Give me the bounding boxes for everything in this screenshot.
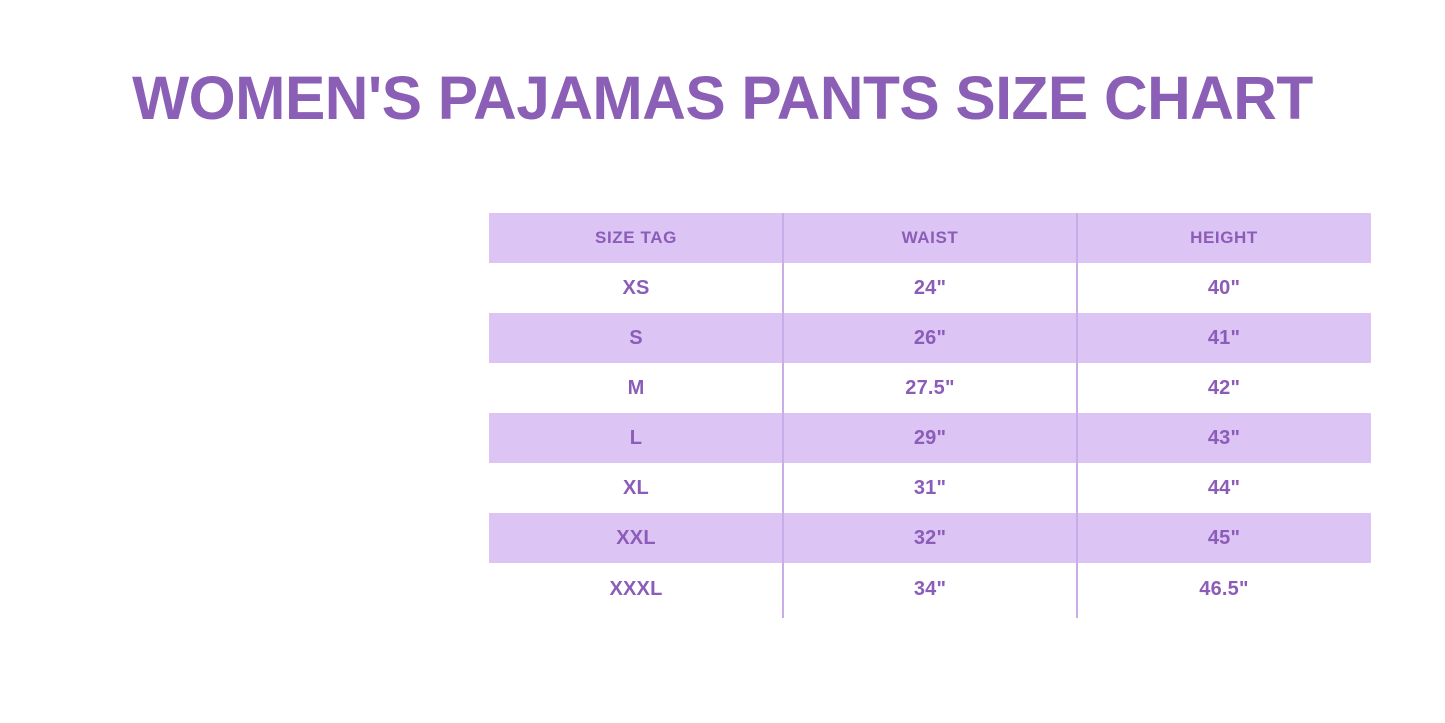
cell-height: 43" xyxy=(1077,413,1371,463)
cell-height: 41" xyxy=(1077,313,1371,363)
cell-waist: 24" xyxy=(783,263,1077,313)
cell-height: 44" xyxy=(1077,463,1371,513)
cell-size-tag: XXL xyxy=(489,513,783,563)
cell-waist: 29" xyxy=(783,413,1077,463)
size-chart-table-wrapper: SIZE TAG WAIST HEIGHT XS 24" 40" S 26" 4… xyxy=(489,213,1371,615)
cell-height: 42" xyxy=(1077,363,1371,413)
table-header-row: SIZE TAG WAIST HEIGHT xyxy=(489,213,1371,263)
table-row: XL 31" 44" xyxy=(489,463,1371,513)
cell-height: 46.5" xyxy=(1077,563,1371,615)
cell-size-tag: L xyxy=(489,413,783,463)
column-header-size-tag: SIZE TAG xyxy=(489,213,783,263)
table-body: XS 24" 40" S 26" 41" M 27.5" 42" L 29" xyxy=(489,263,1371,615)
cell-waist: 32" xyxy=(783,513,1077,563)
table-row: S 26" 41" xyxy=(489,313,1371,363)
cell-size-tag: M xyxy=(489,363,783,413)
table-row: XXXL 34" 46.5" xyxy=(489,563,1371,615)
cell-height: 40" xyxy=(1077,263,1371,313)
cell-waist: 34" xyxy=(783,563,1077,615)
cell-size-tag: S xyxy=(489,313,783,363)
table-row: XXL 32" 45" xyxy=(489,513,1371,563)
cell-waist: 27.5" xyxy=(783,363,1077,413)
table-row: M 27.5" 42" xyxy=(489,363,1371,413)
cell-waist: 31" xyxy=(783,463,1077,513)
table-row: L 29" 43" xyxy=(489,413,1371,463)
cell-height: 45" xyxy=(1077,513,1371,563)
cell-size-tag: XL xyxy=(489,463,783,513)
column-header-height: HEIGHT xyxy=(1077,213,1371,263)
table-row: XS 24" 40" xyxy=(489,263,1371,313)
size-chart-page: WOMEN'S PAJAMAS PANTS SIZE CHART SIZE TA… xyxy=(0,0,1445,723)
cell-size-tag: XS xyxy=(489,263,783,313)
column-header-waist: WAIST xyxy=(783,213,1077,263)
cell-size-tag: XXXL xyxy=(489,563,783,615)
cell-waist: 26" xyxy=(783,313,1077,363)
table-header: SIZE TAG WAIST HEIGHT xyxy=(489,213,1371,263)
size-chart-table: SIZE TAG WAIST HEIGHT XS 24" 40" S 26" 4… xyxy=(489,213,1371,615)
page-title: WOMEN'S PAJAMAS PANTS SIZE CHART xyxy=(7,66,1438,130)
